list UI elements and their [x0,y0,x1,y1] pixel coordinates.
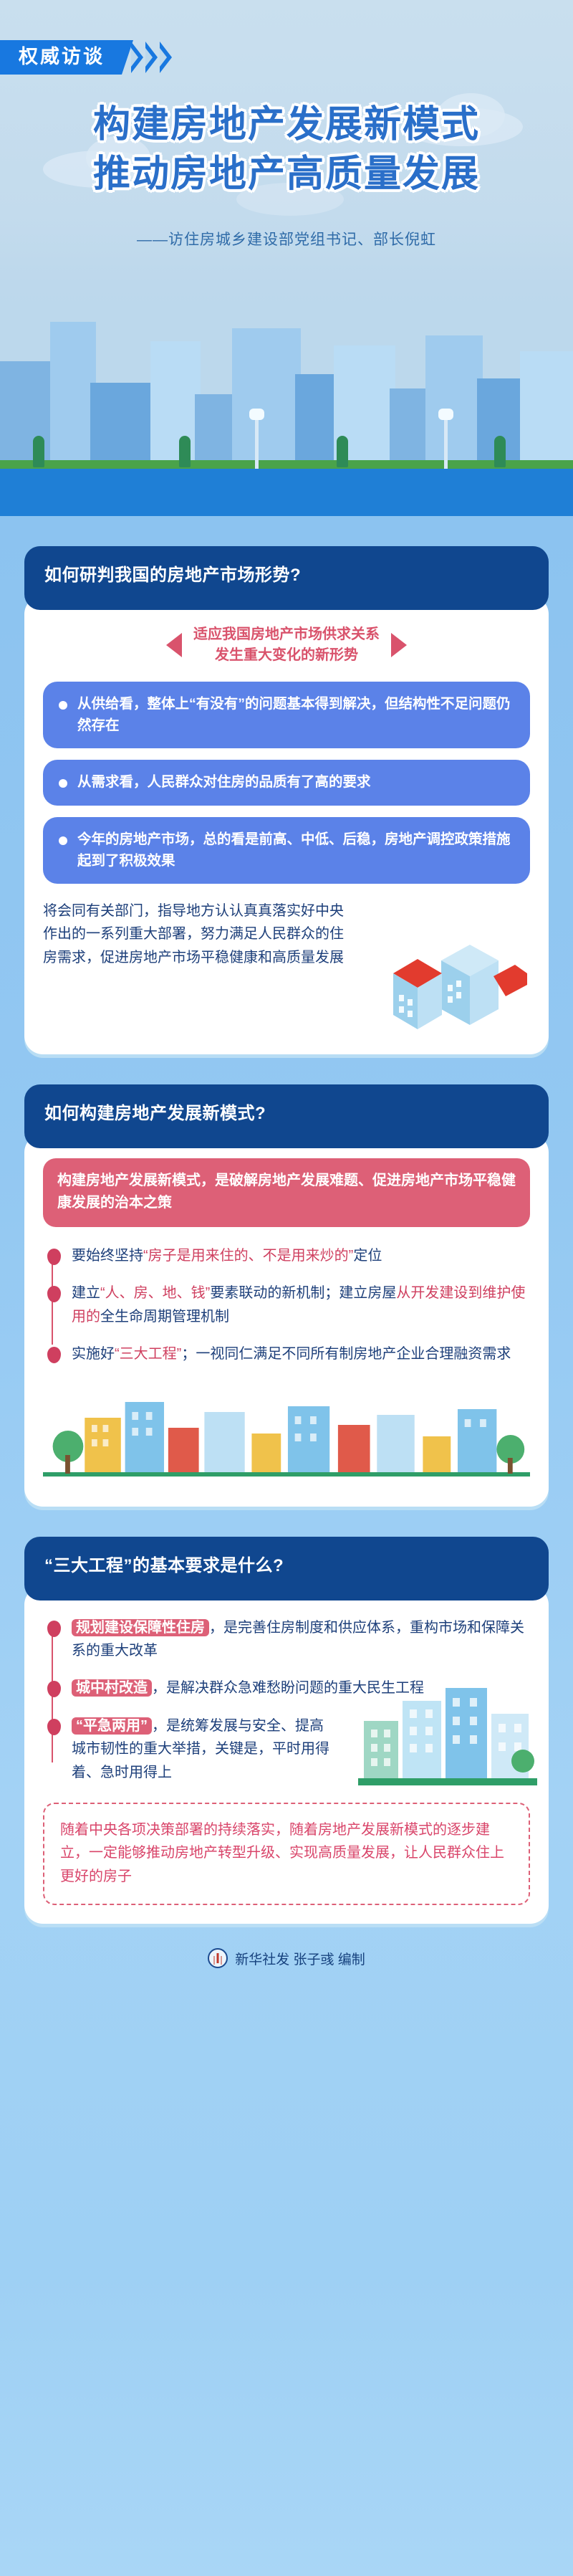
section-heading: 如何研判我国的房地产市场形势? [24,546,549,610]
text-segment-tag: “平急两用” [72,1717,152,1735]
text-segment: ；一视同仁满足不同所有制房地产企业合理融资需求 [181,1346,511,1362]
text-segment: 建立 [72,1285,100,1301]
footer: 新华社发 张子彧 编制 [0,1924,573,1992]
page-title-line-1: 构建房地产发展新模式 [0,100,573,150]
list-item-text: 要始终坚持“房子是用来住的、不是用来炒的”定位 [72,1244,530,1267]
city-skyline-illustration [0,280,573,516]
list-item: 要始终坚持“房子是用来住的、不是用来炒的”定位 [72,1244,530,1267]
list-item: 规划建设保障性住房，是完善住房制度和供应体系，重构市场和保障关系的重大改革 [72,1616,530,1663]
bullet-dot-icon [59,836,67,845]
chevron-right-icon [129,42,172,73]
text-segment: 定位 [353,1248,382,1264]
list-item: 从需求看，人民群众对住房的品质有了高的要求 [43,760,530,805]
timeline-list: 要始终坚持“房子是用来住的、不是用来炒的”定位 建立“人、房、地、钱”要素联动的… [43,1244,530,1366]
conclusion-box: 随着中央各项决策部署的持续落实，随着房地产发展新模式的逐步建立，一定能够推动房地… [43,1803,530,1905]
list-item: 今年的房地产市场，总的看是前高、中低、后稳，房地产调控政策措施起到了积极效果 [43,817,530,884]
section-card: 构建房地产发展新模式，是破解房地产发展难题、促进房地产市场平稳健康发展的治本之策… [24,1134,549,1507]
list-item: 从供给看，整体上“有没有”的问题基本得到解决，但结构性不足问题仍然存在 [43,682,530,748]
page-subtitle: ——访住房城乡建设部党组书记、部长倪虹 [0,228,573,249]
text-segment: 全生命周期管理机制 [100,1309,229,1325]
timeline-list: 规划建设保障性住房，是完善住房制度和供应体系，重构市场和保障关系的重大改革 城中… [43,1611,530,1784]
section-card: 规划建设保障性住房，是完善住房制度和供应体系，重构市场和保障关系的重大改革 城中… [24,1586,549,1924]
list-item-text: 建立“人、房、地、钱”要素联动的新机制；建立房屋从开发建设到维护使用的全生命周期… [72,1282,530,1328]
text-segment: 要素联动的新机制；建立房屋 [210,1285,396,1301]
text-segment-tag: 城中村改造 [72,1679,152,1697]
footer-credit: 新华社发 张子彧 编制 [235,1949,365,1968]
tag-banner: 权威访谈 [0,40,172,75]
section-market-situation: 如何研判我国的房地产市场形势? 适应我国房地产市场供求关系 发生重大变化的新形势… [24,546,549,1054]
section-closing: 将会同有关部门，指导地方认认真真落实好中央作出的一系列重大部署，努力满足人民群众… [43,900,530,1036]
infographic-page: 权威访谈 构建房地产发展新模式 推动房地产高质量发展 ——访住房城乡建设部党组书… [0,0,573,2576]
text-segment-tag: 规划建设保障性住房 [72,1619,209,1636]
section-card: 适应我国房地产市场供求关系 发生重大变化的新形势 从供给看，整体上“有没有”的问… [24,596,549,1054]
highlight-banner: 适应我国房地产市场供求关系 发生重大变化的新形势 [43,624,530,666]
section-new-model: 如何构建房地产发展新模式? 构建房地产发展新模式，是破解房地产发展难题、促进房地… [24,1084,549,1507]
section-heading: 如何构建房地产发展新模式? [24,1084,549,1148]
city-blocks-illustration [43,1380,530,1488]
list-item-text: 从供给看，整体上“有没有”的问题基本得到解决，但结构性不足问题仍然存在 [77,693,514,736]
xinhua-logo-icon [208,1948,228,1968]
list-item: “平急两用”，是统筹发展与安全、提高城市韧性的重大举措，关键是，平时用得着、急时… [72,1714,530,1784]
tag-label: 权威访谈 [0,40,133,75]
list-item-text: 实施好“三大工程”；一视同仁满足不同所有制房地产企业合理融资需求 [72,1342,530,1365]
section-heading: “三大工程”的基本要求是什么? [24,1537,549,1601]
section-three-projects: “三大工程”的基本要求是什么? 规划建设保障性住房，是完善住房制度和供应体系，重… [24,1537,549,1924]
red-highlight-banner: 构建房地产发展新模式，是破解房地产发展难题、促进房地产市场平稳健康发展的治本之策 [43,1158,530,1227]
bullet-dot-icon [59,701,67,710]
apartment-blocks-illustration [358,1666,537,1788]
hero-banner: 权威访谈 构建房地产发展新模式 推动房地产高质量发展 ——访住房城乡建设部党组书… [0,0,573,516]
list-item-text: “平急两用”，是统筹发展与安全、提高城市韧性的重大举措，关键是，平时用得着、急时… [72,1714,337,1784]
highlight-banner-line-1: 适应我国房地产市场供求关系 [193,624,380,645]
bullet-dot-icon [59,779,67,788]
list-item-text: 规划建设保障性住房，是完善住房制度和供应体系，重构市场和保障关系的重大改革 [72,1616,530,1663]
text-segment-highlight: “三大工程” [115,1346,181,1362]
text-segment: 实施好 [72,1346,115,1362]
text-segment: 要始终坚持 [72,1248,143,1264]
highlight-banner-line-2: 发生重大变化的新形势 [193,645,380,666]
text-segment-highlight: “人、房、地、钱” [100,1285,210,1301]
section-closing-text: 将会同有关部门，指导地方认认真真落实好中央作出的一系列重大部署，努力满足人民群众… [43,900,345,969]
page-title-line-2: 推动房地产高质量发展 [0,150,573,199]
page-title: 构建房地产发展新模式 推动房地产高质量发展 [0,100,573,199]
list-item: 建立“人、房、地、钱”要素联动的新机制；建立房屋从开发建设到维护使用的全生命周期… [72,1282,530,1328]
triangle-right-icon [391,633,407,657]
text-segment-highlight: “房子是用来住的、不是用来炒的” [143,1248,353,1264]
triangle-left-icon [166,633,182,657]
list-item-text: 从需求看，人民群众对住房的品质有了高的要求 [77,771,371,793]
list-item-text: 今年的房地产市场，总的看是前高、中低、后稳，房地产调控政策措施起到了积极效果 [77,829,514,872]
isometric-buildings-illustration [373,910,527,1036]
list-item: 实施好“三大工程”；一视同仁满足不同所有制房地产企业合理融资需求 [72,1342,530,1365]
